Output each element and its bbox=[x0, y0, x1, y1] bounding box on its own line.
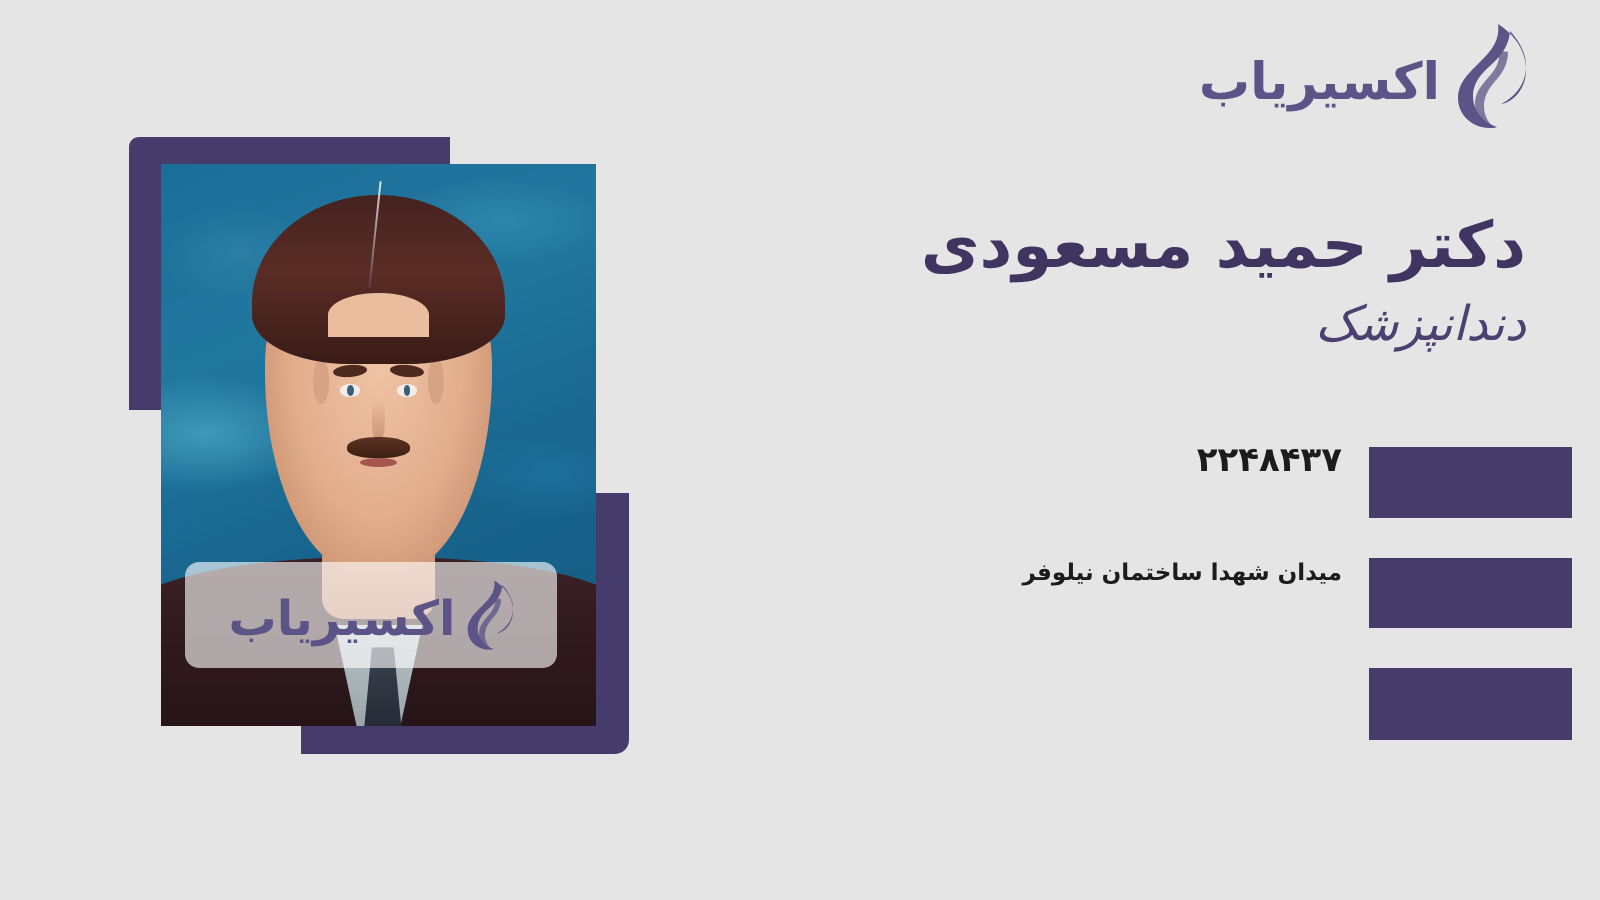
doctor-specialty: دندانپزشک bbox=[766, 296, 1526, 354]
brand-name: اکسیریاب bbox=[1199, 57, 1440, 108]
business-card: اکسیریاب bbox=[0, 0, 1600, 900]
doctor-info: دکتر حمید مسعودی دندانپزشک bbox=[766, 210, 1526, 353]
flame-droplet-icon bbox=[465, 580, 513, 650]
phone-number[interactable]: ۲۲۴۸۴۳۷ bbox=[1197, 440, 1342, 480]
photo-brow-left bbox=[333, 364, 368, 379]
photo-brow-right bbox=[389, 364, 424, 379]
photo-eye-left bbox=[340, 384, 360, 397]
watermark-name: اکسیریاب bbox=[229, 595, 456, 643]
photo-eye-right bbox=[397, 384, 417, 397]
photo-ear-left bbox=[313, 358, 329, 403]
photo-mouth bbox=[360, 458, 396, 467]
doctor-name: دکتر حمید مسعودی bbox=[766, 210, 1526, 284]
flame-droplet-icon bbox=[1454, 24, 1526, 128]
decor-bar-3 bbox=[1369, 668, 1572, 740]
photo-watermark: اکسیریاب bbox=[185, 562, 557, 668]
decor-bars bbox=[1369, 447, 1572, 740]
photo-composition: اکسیریاب bbox=[129, 137, 629, 755]
photo-nose bbox=[372, 400, 386, 442]
clinic-address: میدان شهدا ساختمان نیلوفر bbox=[1022, 560, 1342, 586]
doctor-photo: اکسیریاب bbox=[161, 164, 596, 726]
photo-ear-right bbox=[428, 358, 444, 403]
decor-bar-2 bbox=[1369, 558, 1572, 628]
decor-bar-1 bbox=[1369, 447, 1572, 518]
photo-mustache bbox=[347, 437, 410, 458]
brand-logo: اکسیریاب bbox=[1199, 24, 1526, 128]
